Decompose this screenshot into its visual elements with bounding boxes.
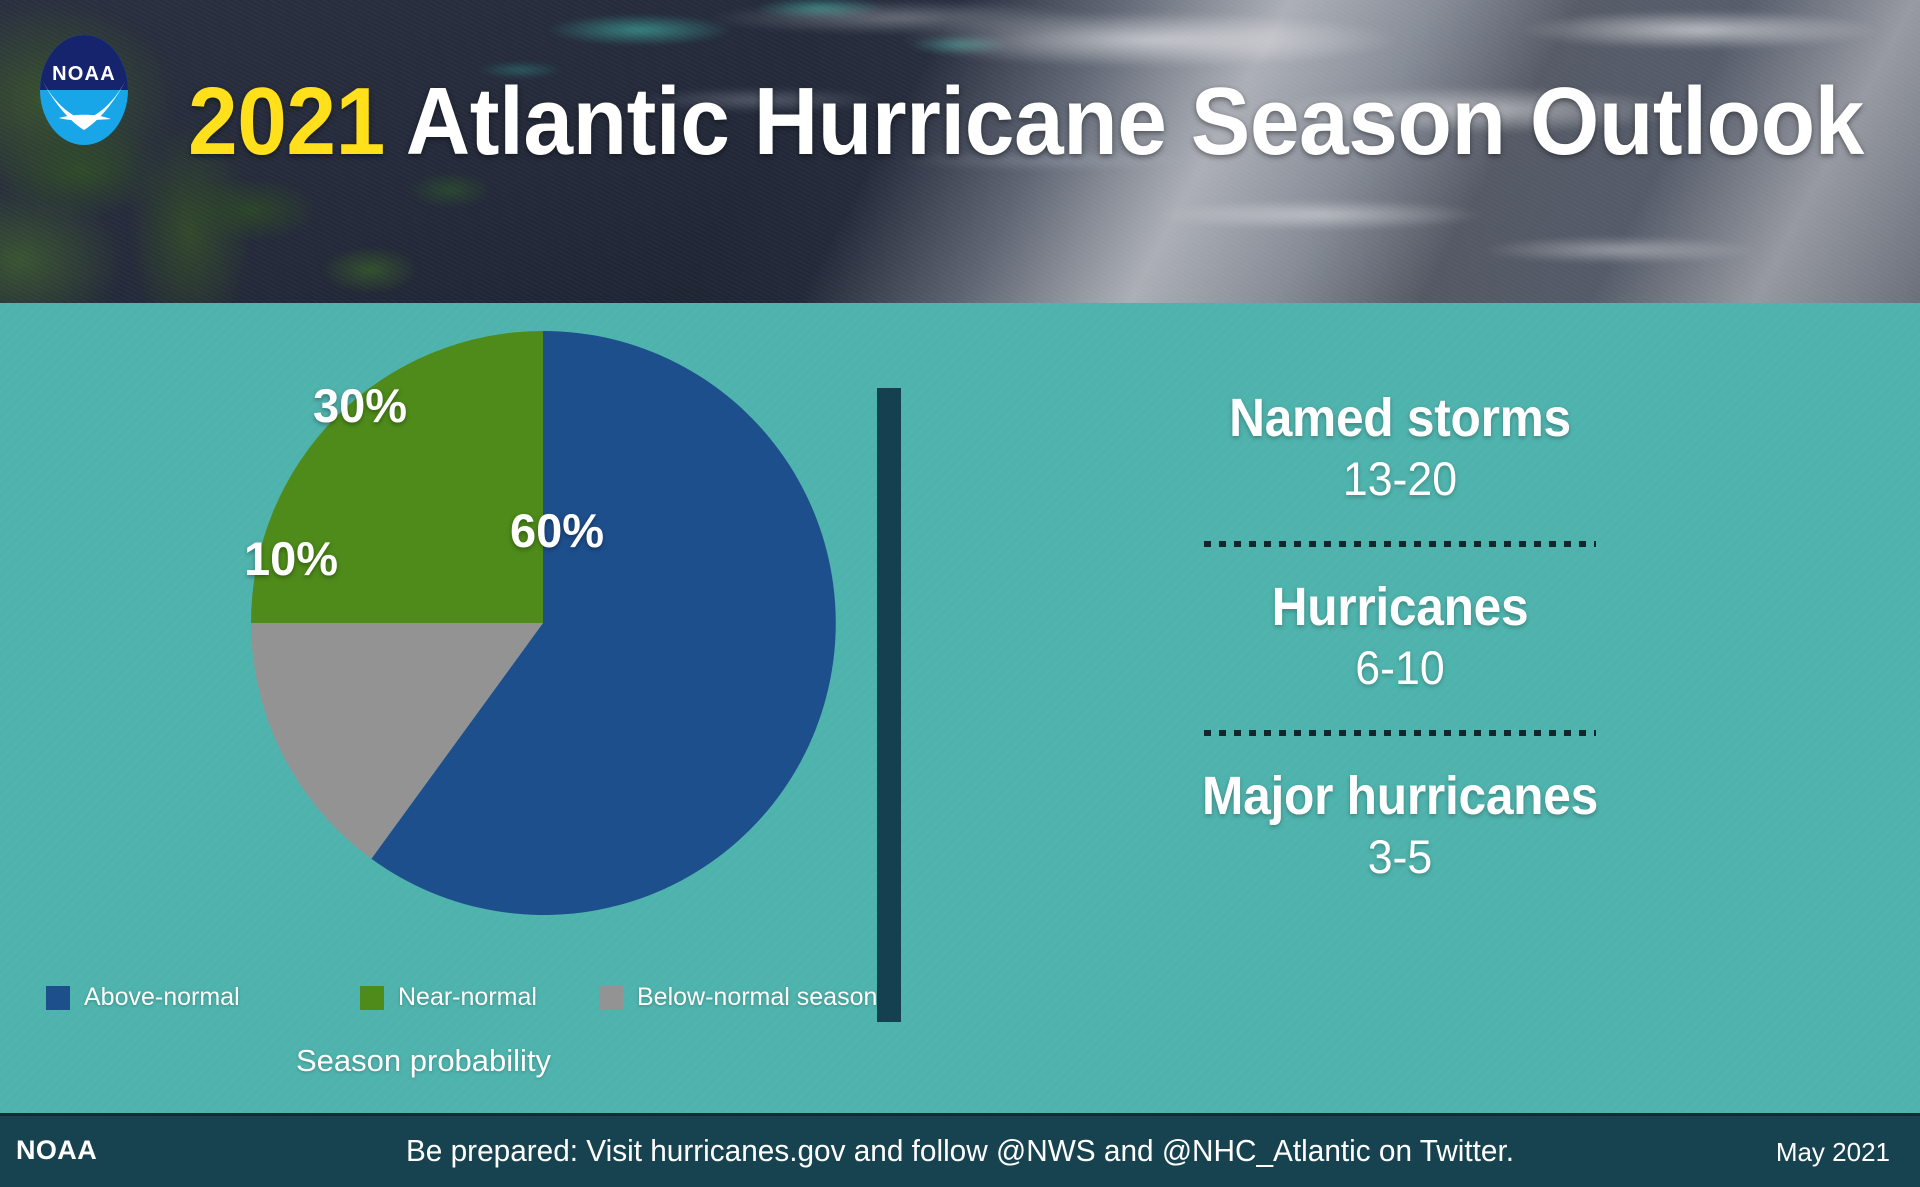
header-banner: NOAA 2021 Atlantic Hurricane Season Outl… [0, 0, 1920, 303]
footer-date: May 2021 [1776, 1137, 1890, 1168]
chart-caption: Season probability [296, 1043, 551, 1079]
legend-swatch-near-normal [360, 986, 384, 1010]
pie-label-above-normal: 60% [510, 503, 604, 558]
legend-label-near-normal: Near-normal [398, 983, 537, 1012]
title-text: Atlantic Hurricane Season Outlook [385, 68, 1864, 175]
legend-swatch-above-normal [46, 986, 70, 1010]
stat-value-named-storms: 13-20 [1039, 451, 1761, 507]
legend-item-above-normal: Above-normal [46, 983, 240, 1012]
stat-separator-2 [1204, 730, 1596, 736]
legend-label-below-normal: Below-normal season [637, 983, 877, 1012]
legend-label-above-normal: Above-normal [84, 983, 240, 1012]
page-title: 2021 Atlantic Hurricane Season Outlook [188, 74, 1864, 170]
stat-hurricanes: Hurricanes 6-10 [1020, 579, 1780, 696]
stat-major-hurricanes: Major hurricanes 3-5 [1020, 768, 1780, 885]
stat-value-major-hurricanes: 3-5 [1039, 829, 1761, 885]
legend-swatch-below-normal [599, 986, 623, 1010]
noaa-logo-icon: NOAA [39, 34, 129, 146]
stat-value-hurricanes: 6-10 [1039, 640, 1761, 696]
stat-label-named-storms: Named storms [1050, 390, 1749, 447]
legend-item-below-normal: Below-normal season [599, 983, 877, 1012]
stat-label-hurricanes: Hurricanes [1050, 579, 1749, 636]
stat-named-storms: Named storms 13-20 [1020, 390, 1780, 507]
legend-item-near-normal: Near-normal [360, 983, 537, 1012]
chart-legend: Above-normal Near-normal Below-normal se… [46, 983, 876, 1023]
pie-label-near-normal: 30% [313, 378, 407, 433]
forecast-stats-panel: Named storms 13-20 Hurricanes 6-10 Major… [1020, 390, 1780, 885]
pie-label-below-normal: 10% [244, 531, 338, 586]
vertical-divider [877, 388, 901, 1022]
stat-separator-1 [1204, 541, 1596, 547]
title-year: 2021 [188, 68, 385, 175]
footer-message: Be prepared: Visit hurricanes.gov and fo… [38, 1133, 1881, 1169]
stat-label-major-hurricanes: Major hurricanes [1050, 768, 1749, 825]
svg-text:NOAA: NOAA [52, 63, 116, 85]
infographic-page: NOAA 2021 Atlantic Hurricane Season Outl… [0, 0, 1920, 1187]
footer-bar: NOAA Be prepared: Visit hurricanes.gov a… [0, 1113, 1920, 1187]
footer-divider [0, 1113, 1920, 1116]
